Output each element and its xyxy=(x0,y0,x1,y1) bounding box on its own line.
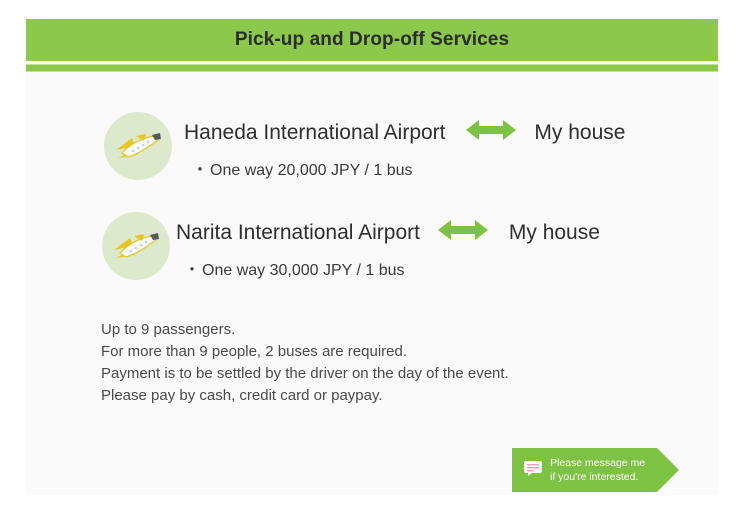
double-headed-arrow-icon xyxy=(438,218,488,247)
note-line: For more than 9 people, 2 buses are requ… xyxy=(101,341,661,363)
route-detail: ・One way 30,000 JPY / 1 bus xyxy=(184,256,405,280)
double-headed-arrow-icon xyxy=(466,118,516,147)
message-bubble-icon xyxy=(524,461,542,476)
bullet-dot: ・ xyxy=(184,262,200,279)
destination-label: My house xyxy=(509,221,600,245)
message-badge-line-2: if you're interested. xyxy=(550,470,654,484)
route-row: Narita International Airport My house ・O… xyxy=(26,212,718,292)
route-detail: ・One way 20,000 JPY / 1 bus xyxy=(192,156,413,180)
page-title: Pick-up and Drop-off Services xyxy=(26,19,718,61)
note-line: Payment is to be settled by the driver o… xyxy=(101,363,661,385)
message-badge-text: Please message me if you're interested. xyxy=(550,456,654,484)
route-row: Haneda International Airport My house ・O… xyxy=(26,112,718,192)
airplane-icon xyxy=(104,112,172,180)
origin-label: Narita International Airport xyxy=(176,221,420,245)
airplane-icon xyxy=(102,212,170,280)
header-divider xyxy=(26,64,718,72)
message-badge-line-1: Please message me xyxy=(550,456,654,470)
route-endpoints: Haneda International Airport My house xyxy=(184,118,625,147)
note-line: Please pay by cash, credit card or paypa… xyxy=(101,385,661,407)
route-endpoints: Narita International Airport My house xyxy=(176,218,600,247)
route-detail-text: One way 20,000 JPY / 1 bus xyxy=(210,162,413,179)
notes-block: Up to 9 passengers. For more than 9 peop… xyxy=(101,319,661,407)
origin-label: Haneda International Airport xyxy=(184,121,446,145)
bullet-dot: ・ xyxy=(192,162,208,179)
destination-label: My house xyxy=(534,121,625,145)
route-detail-text: One way 30,000 JPY / 1 bus xyxy=(202,262,405,279)
note-line: Up to 9 passengers. xyxy=(101,319,661,341)
message-badge[interactable]: Please message me if you're interested. xyxy=(512,448,657,492)
message-badge-arrow-tip xyxy=(657,448,679,492)
slide-canvas: Pick-up and Drop-off Services Haneda Int… xyxy=(26,19,718,495)
